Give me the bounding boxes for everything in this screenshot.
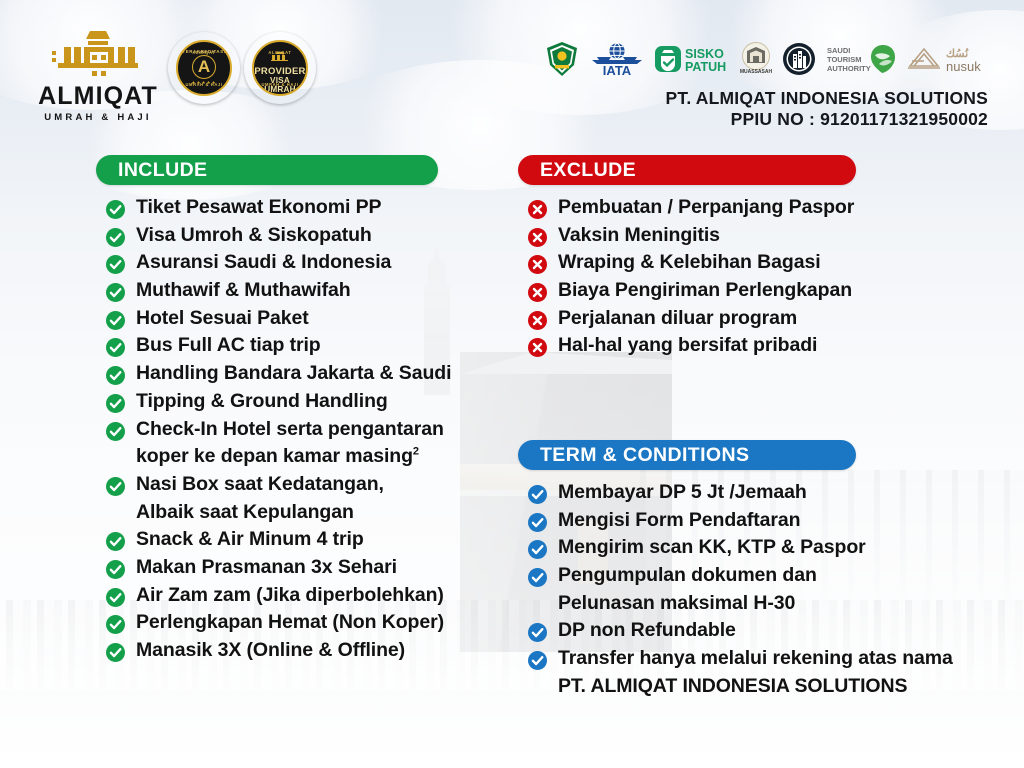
list-item-label: Muthawif & Muthawifah — [136, 277, 351, 305]
svg-text:PATUH: PATUH — [685, 60, 726, 74]
list-item-label: Wraping & Kelebihan Bagasi — [558, 249, 821, 277]
list-item: Handling Bandara Jakarta & Saudi — [96, 360, 496, 388]
list-item-label: Asuransi Saudi & Indonesia — [136, 249, 391, 277]
check-circle-green-icon — [106, 228, 125, 247]
list-item-label: Manasik 3X (Online & Offline) — [136, 637, 405, 665]
check-circle-blue-icon — [528, 540, 547, 559]
almiqat-arabic-monogram-icon — [36, 28, 160, 80]
x-circle-red-icon — [528, 255, 547, 274]
list-item-label: Transfer hanya melalui rekening atas nam… — [558, 645, 953, 673]
include-title: INCLUDE — [118, 159, 207, 182]
list-item-label: Perjalanan diluar program — [558, 305, 797, 333]
list-item: Visa Umroh & Siskopatuh — [96, 222, 496, 250]
check-circle-green-icon — [106, 588, 125, 607]
superscript: 2 — [413, 446, 419, 458]
list-item: Pelunasan maksimal H-30 — [518, 590, 928, 618]
list-item: Transfer hanya melalui rekening atas nam… — [518, 645, 928, 673]
list-item: Asuransi Saudi & Indonesia — [96, 249, 496, 277]
list-item-label: Makan Prasmanan 3x Sehari — [136, 554, 397, 582]
exclude-list: Pembuatan / Perpanjang PasporVaksin Meni… — [518, 194, 918, 360]
terms-section: TERM & CONDITIONS Membayar DP 5 Jt /Jema… — [518, 440, 928, 701]
x-circle-red-icon — [528, 228, 547, 247]
brand-subtitle: UMRAH & HAJI — [36, 112, 160, 123]
include-list: Tiket Pesawat Ekonomi PPVisa Umroh & Sis… — [96, 194, 496, 665]
x-circle-red-icon — [528, 283, 547, 302]
list-item-label: Vaksin Meningitis — [558, 222, 720, 250]
list-item-label: Hal-hal yang bersifat pribadi — [558, 332, 817, 360]
saudi-building-logo-icon — [782, 37, 816, 81]
company-name: PT. ALMIQAT INDONESIA SOLUTIONS — [666, 88, 989, 109]
list-item-label: PT. ALMIQAT INDONESIA SOLUTIONS — [558, 673, 907, 701]
list-item: Hotel Sesuai Paket — [96, 305, 496, 333]
kemenag-logo-icon — [544, 37, 580, 81]
nusuk-logo-icon: نُسُك nusuk — [906, 37, 990, 81]
list-item: Check-In Hotel serta pengantaran — [96, 416, 496, 444]
list-item-label: Bus Full AC tiap trip — [136, 332, 321, 360]
list-item: Perlengkapan Hemat (Non Koper) — [96, 609, 496, 637]
check-circle-green-icon — [106, 532, 125, 551]
list-item-label: Tiket Pesawat Ekonomi PP — [136, 194, 381, 222]
list-item: Tipping & Ground Handling — [96, 388, 496, 416]
exclude-header: EXCLUDE — [518, 155, 856, 185]
check-circle-green-icon — [106, 255, 125, 274]
list-item: Albaik saat Kepulangan — [96, 499, 496, 527]
x-circle-red-icon — [528, 200, 547, 219]
check-circle-green-icon — [106, 615, 125, 634]
list-item-label: Handling Bandara Jakarta & Saudi — [136, 360, 451, 388]
exclude-section: EXCLUDE Pembuatan / Perpanjang PasporVak… — [518, 155, 918, 360]
include-header: INCLUDE — [96, 155, 438, 185]
list-item: Pembuatan / Perpanjang Paspor — [518, 194, 918, 222]
check-circle-blue-icon — [528, 568, 547, 587]
list-item-label: Tipping & Ground Handling — [136, 388, 388, 416]
medal-top-text: ALMIQAT — [192, 50, 215, 55]
list-item: Manasik 3X (Online & Offline) — [96, 637, 496, 665]
almiqat-brand-logo: ALMIQAT UMRAH & HAJI — [36, 28, 160, 123]
check-circle-green-icon — [106, 366, 125, 385]
poster-header: ALMIQAT UMRAH & HAJI ALMIQAT TERAKREDITA… — [0, 0, 1024, 140]
list-item: Tiket Pesawat Ekonomi PP — [96, 194, 496, 222]
svg-text:SISKO: SISKO — [685, 47, 724, 61]
list-item-label: Membayar DP 5 Jt /Jemaah — [558, 479, 807, 507]
list-item: Vaksin Meningitis — [518, 222, 918, 250]
svg-text:IATA: IATA — [603, 63, 632, 77]
list-item: Membayar DP 5 Jt /Jemaah — [518, 479, 928, 507]
list-item-label: Snack & Air Minum 4 trip — [136, 526, 364, 554]
terms-header: TERM & CONDITIONS — [518, 440, 856, 470]
list-item-label: koper ke depan kamar masing2 — [136, 443, 419, 471]
courtyard-floor — [0, 690, 1024, 768]
medal-bottom-text: UMRAH & HAJI — [262, 82, 299, 87]
list-item: Snack & Air Minum 4 trip — [96, 526, 496, 554]
muassasah-logo-icon: MUASSASAH — [739, 37, 773, 81]
list-item-label: Nasi Box saat Kedatangan, — [136, 471, 384, 499]
list-item-label: Air Zam zam (Jika diperbolehkan) — [136, 582, 444, 610]
list-item-label: Mengisi Form Pendaftaran — [558, 507, 800, 535]
include-section: INCLUDE Tiket Pesawat Ekonomi PPVisa Umr… — [96, 155, 496, 665]
check-circle-green-icon — [106, 338, 125, 357]
medal-grade: A — [192, 55, 216, 79]
check-circle-green-icon — [106, 394, 125, 413]
check-circle-blue-icon — [528, 651, 547, 670]
medal-line1: PROVIDER — [254, 67, 305, 77]
list-item-label: Perlengkapan Hemat (Non Koper) — [136, 609, 444, 637]
x-circle-red-icon — [528, 338, 547, 357]
list-item: Air Zam zam (Jika diperbolehkan) — [96, 582, 496, 610]
check-circle-green-icon — [106, 643, 125, 662]
svg-text:TOURISM: TOURISM — [827, 55, 861, 64]
list-item: PT. ALMIQAT INDONESIA SOLUTIONS — [518, 673, 928, 701]
medal-bottom-text: UMRAH & HAJI — [186, 82, 223, 87]
list-item-label: Pelunasan maksimal H-30 — [558, 590, 795, 618]
list-item-label: Mengirim scan KK, KTP & Paspor — [558, 534, 866, 562]
terms-title: TERM & CONDITIONS — [540, 444, 749, 467]
check-circle-blue-icon — [528, 513, 547, 532]
list-item: Wraping & Kelebihan Bagasi — [518, 249, 918, 277]
iata-logo-icon: IATA — [589, 37, 645, 81]
svg-text:nusuk: nusuk — [946, 59, 981, 74]
brand-name: ALMIQAT — [36, 84, 160, 109]
visa-provider-medal-icon: ALMIQAT PROVIDER VISA UMRAH UMRAH & HAJI — [244, 32, 316, 104]
check-circle-green-icon — [106, 560, 125, 579]
list-item: Makan Prasmanan 3x Sehari — [96, 554, 496, 582]
accreditation-medal-icon: ALMIQAT TERAKREDITASI A ★★★★★ UMRAH & HA… — [168, 32, 240, 104]
list-item: Biaya Pengiriman Perlengkapan — [518, 277, 918, 305]
list-item-label: DP non Refundable — [558, 617, 736, 645]
partner-logos-row: IATA SISKO PATUH — [544, 36, 990, 82]
svg-text:AUTHORITY: AUTHORITY — [827, 64, 871, 73]
list-item: Bus Full AC tiap trip — [96, 332, 496, 360]
check-circle-blue-icon — [528, 485, 547, 504]
list-item: Hal-hal yang bersifat pribadi — [518, 332, 918, 360]
list-item: Mengisi Form Pendaftaran — [518, 507, 928, 535]
medal-top-text: ALMIQAT — [268, 50, 291, 55]
list-item: Perjalanan diluar program — [518, 305, 918, 333]
exclude-title: EXCLUDE — [540, 159, 636, 182]
list-item-label: Hotel Sesuai Paket — [136, 305, 309, 333]
company-info: PT. ALMIQAT INDONESIA SOLUTIONS PPIU NO … — [666, 88, 989, 129]
check-circle-green-icon — [106, 283, 125, 302]
list-item-label: Visa Umroh & Siskopatuh — [136, 222, 372, 250]
list-item: Nasi Box saat Kedatangan, — [96, 471, 496, 499]
check-circle-green-icon — [106, 422, 125, 441]
umrah-package-poster: ALMIQAT UMRAH & HAJI ALMIQAT TERAKREDITA… — [0, 0, 1024, 768]
list-item-label: Biaya Pengiriman Perlengkapan — [558, 277, 852, 305]
check-circle-green-icon — [106, 311, 125, 330]
list-item-label: Albaik saat Kepulangan — [136, 499, 354, 527]
list-item: koper ke depan kamar masing2 — [96, 443, 496, 471]
list-item-label: Pengumpulan dokumen dan — [558, 562, 817, 590]
company-ppiu-number: PPIU NO : 91201171321950002 — [666, 109, 989, 130]
list-item-label: Pembuatan / Perpanjang Paspor — [558, 194, 854, 222]
check-circle-blue-icon — [528, 623, 547, 642]
saudi-tourism-authority-logo-icon: SAUDI TOURISM AUTHORITY — [825, 37, 897, 81]
check-circle-green-icon — [106, 200, 125, 219]
x-circle-red-icon — [528, 311, 547, 330]
svg-text:SAUDI: SAUDI — [827, 46, 850, 55]
list-item: DP non Refundable — [518, 617, 928, 645]
check-circle-green-icon — [106, 477, 125, 496]
terms-list: Membayar DP 5 Jt /JemaahMengisi Form Pen… — [518, 479, 928, 701]
list-item: Pengumpulan dokumen dan — [518, 562, 928, 590]
siskopatuh-logo-icon: SISKO PATUH — [654, 37, 730, 81]
list-item: Mengirim scan KK, KTP & Paspor — [518, 534, 928, 562]
list-item-label: Check-In Hotel serta pengantaran — [136, 416, 444, 444]
list-item: Muthawif & Muthawifah — [96, 277, 496, 305]
svg-text:MUASSASAH: MUASSASAH — [740, 69, 773, 75]
